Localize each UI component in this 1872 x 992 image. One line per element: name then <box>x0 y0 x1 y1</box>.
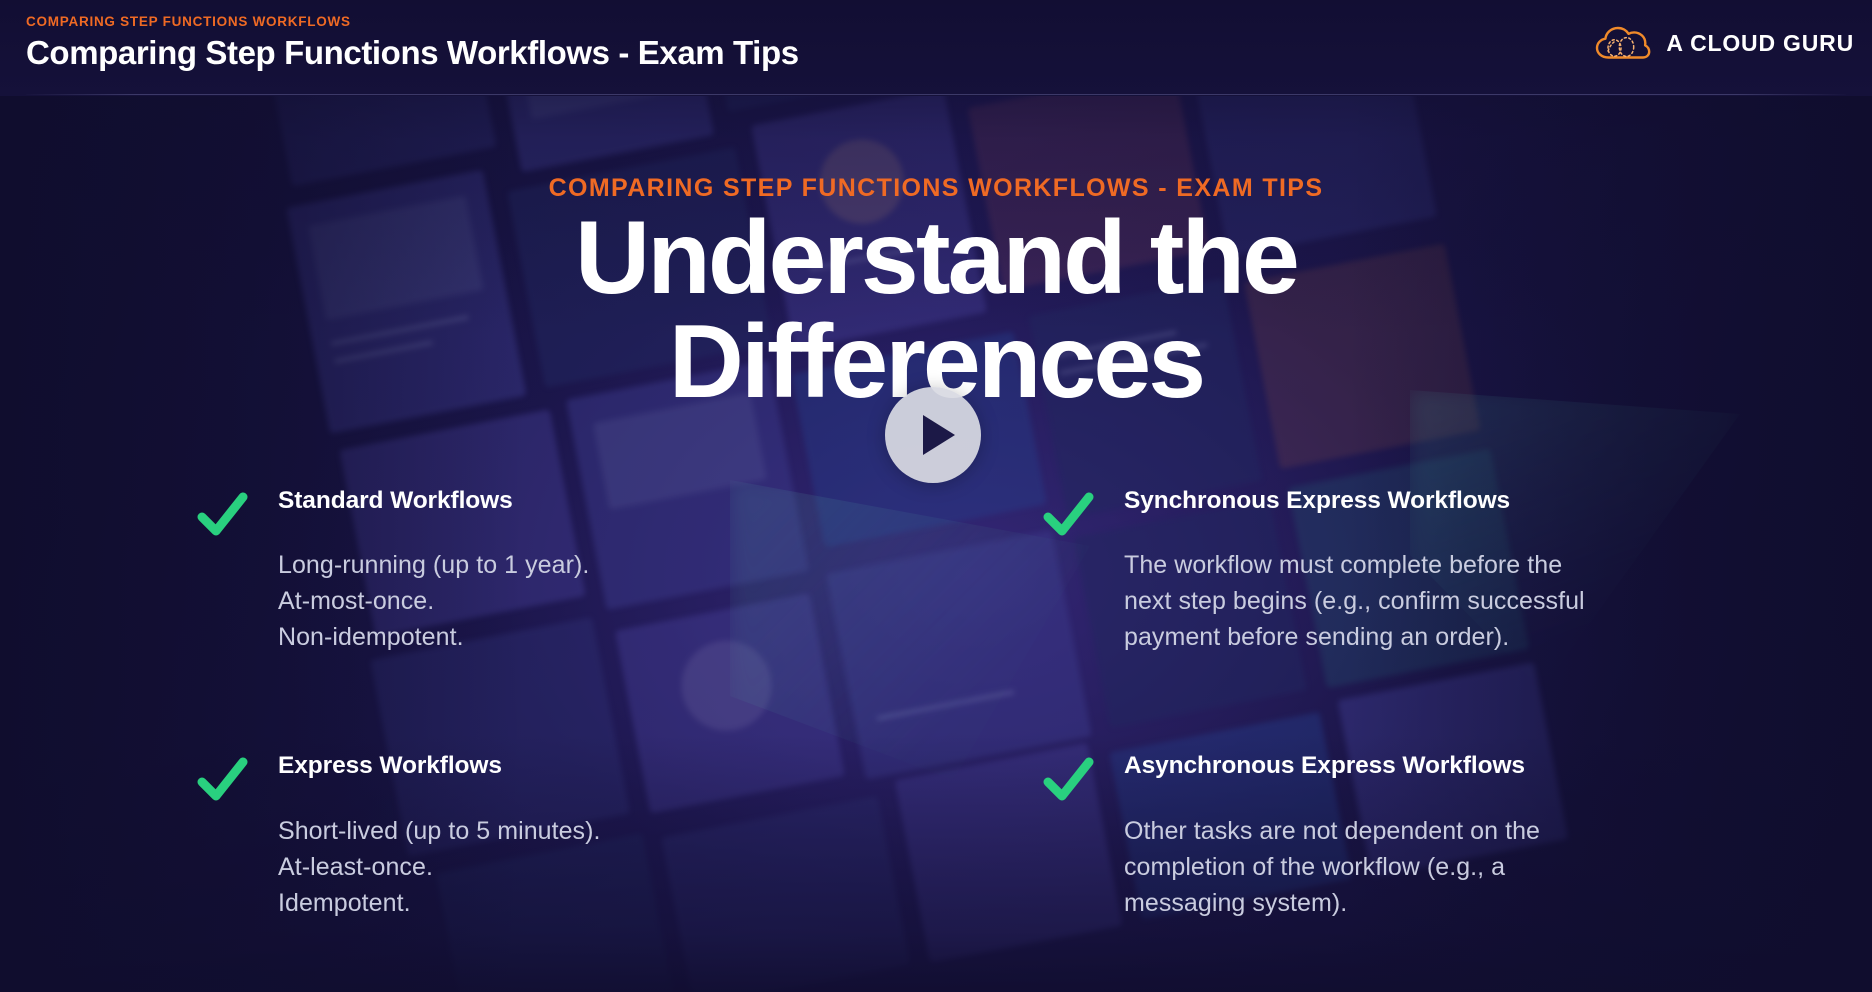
page-header: COMPARING STEP FUNCTIONS WORKFLOWS Compa… <box>0 0 1872 96</box>
green-check-icon <box>1042 755 1094 807</box>
bullet-item-express-workflows: Express Workflows Short-lived (up to 5 m… <box>196 751 844 920</box>
bullet-line: At-least-once. <box>278 849 844 885</box>
logo-text: A CLOUD GURU <box>1666 30 1854 57</box>
bullet-item-synchronous-express-workflows: Synchronous Express Workflows The workfl… <box>1042 486 1690 655</box>
bullet-title: Synchronous Express Workflows <box>1124 486 1690 515</box>
header-divider <box>26 94 1846 95</box>
bullet-item-asynchronous-express-workflows: Asynchronous Express Workflows Other tas… <box>1042 751 1690 920</box>
play-icon <box>923 415 955 455</box>
bullet-grid: Standard Workflows Long-running (up to 1… <box>196 486 1716 921</box>
bullet-title: Express Workflows <box>278 751 844 780</box>
header-text-group: COMPARING STEP FUNCTIONS WORKFLOWS Compa… <box>26 14 799 72</box>
bullet-body: Short-lived (up to 5 minutes). At-least-… <box>278 813 844 921</box>
bullet-line: Idempotent. <box>278 885 844 921</box>
green-check-icon <box>1042 490 1094 542</box>
bullet-line: messaging system). <box>1124 885 1690 921</box>
bullet-line: next step begins (e.g., confirm successf… <box>1124 583 1690 619</box>
bullet-title: Asynchronous Express Workflows <box>1124 751 1690 780</box>
bullet-item-standard-workflows: Standard Workflows Long-running (up to 1… <box>196 486 844 655</box>
bullet-line: completion of the workflow (e.g., a <box>1124 849 1690 885</box>
bullet-body: The workflow must complete before the ne… <box>1124 547 1690 655</box>
green-check-icon <box>196 490 248 542</box>
acloudguru-logo: A CLOUD GURU <box>1594 23 1854 63</box>
slide-stage: COMPARING STEP FUNCTIONS WORKFLOWS Compa… <box>0 0 1872 992</box>
bullet-title: Standard Workflows <box>278 486 844 515</box>
bullet-line: At-most-once. <box>278 583 844 619</box>
slide-content: COMPARING STEP FUNCTIONS WORKFLOWS - EXA… <box>0 96 1872 992</box>
bullet-line: Non-idempotent. <box>278 619 844 655</box>
green-check-icon <box>196 755 248 807</box>
bullet-line: Long-running (up to 1 year). <box>278 547 844 583</box>
bullet-body: Long-running (up to 1 year). At-most-onc… <box>278 547 844 655</box>
bullet-line: The workflow must complete before the <box>1124 547 1690 583</box>
slide-kicker: COMPARING STEP FUNCTIONS WORKFLOWS - EXA… <box>0 174 1872 203</box>
bullet-line: Short-lived (up to 5 minutes). <box>278 813 844 849</box>
page-title: Comparing Step Functions Workflows - Exa… <box>26 34 799 72</box>
slide-heading-line-1: Understand the <box>575 200 1297 316</box>
slide-heading: Understand the Differences <box>436 206 1436 414</box>
header-kicker: COMPARING STEP FUNCTIONS WORKFLOWS <box>26 14 799 29</box>
bullet-body: Other tasks are not dependent on the com… <box>1124 813 1690 921</box>
bullet-line: payment before sending an order). <box>1124 619 1690 655</box>
cloud-icon <box>1594 23 1652 63</box>
bullet-line: Other tasks are not dependent on the <box>1124 813 1690 849</box>
play-button[interactable] <box>885 387 981 483</box>
